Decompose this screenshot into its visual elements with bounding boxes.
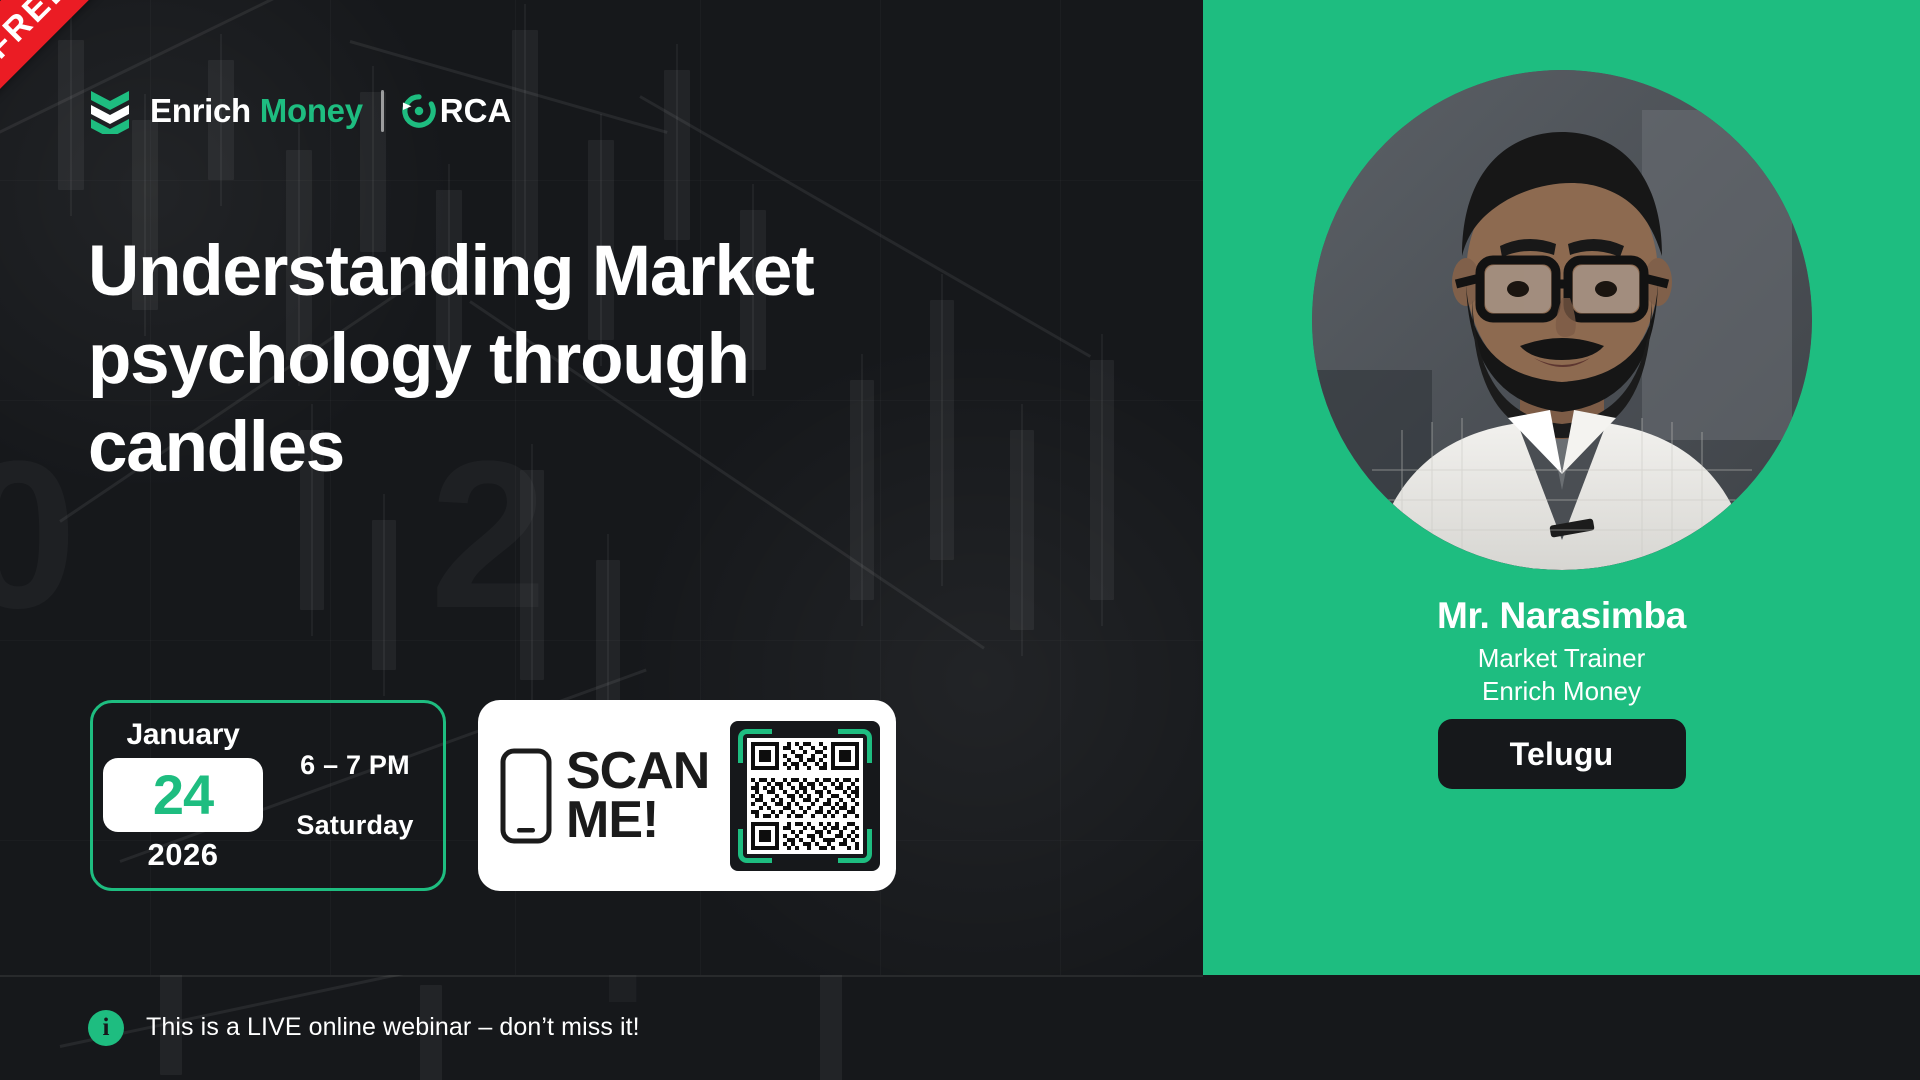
language-badge: Telugu [1438, 719, 1686, 789]
free-ribbon: FREE [0, 0, 204, 204]
speaker-portrait-avatar [1312, 70, 1812, 570]
speaker-role: Market Trainer [1203, 642, 1920, 675]
event-day: 24 [153, 767, 213, 823]
brand-name-part2: Money [260, 92, 363, 129]
scan-me-card[interactable]: SCAN ME! [478, 700, 896, 891]
qr-bracket-bottom-right [838, 829, 872, 863]
info-icon-glyph: i [103, 1014, 110, 1042]
avatar [1312, 70, 1812, 570]
speaker-organisation: Enrich Money [1203, 675, 1920, 708]
qr-bracket-top-left [738, 729, 772, 763]
free-ribbon-label: FREE [0, 0, 79, 67]
event-date-card: January 24 2026 6 – 7 PM Saturday [90, 700, 446, 891]
info-icon: i [88, 1010, 124, 1046]
scan-line-2: ME! [566, 796, 730, 845]
scan-me-text: SCAN ME! [552, 747, 730, 845]
language-label: Telugu [1510, 736, 1614, 773]
left-content-panel: 2 0 0 FREE Enrich Money [0, 0, 1203, 975]
event-date-block: January 24 2026 [93, 703, 273, 888]
free-ribbon-band: FREE [0, 0, 204, 161]
page-title: Understanding Market psychology through … [88, 228, 948, 492]
webinar-promo-banner: 2 0 0 FREE Enrich Money [0, 0, 1920, 1080]
orca-circle-icon [402, 94, 436, 128]
smartphone-icon [500, 748, 552, 844]
speaker-name: Mr. Narasimba [1203, 595, 1920, 637]
footer-notice: i This is a LIVE online webinar – don’t … [88, 975, 640, 1080]
logo-divider [381, 90, 384, 132]
partner-logo: RCA [402, 92, 512, 130]
event-time-block: 6 – 7 PM Saturday [273, 750, 443, 841]
event-day-box: 24 [103, 758, 263, 832]
event-month: January [127, 718, 240, 752]
partner-name: RCA [440, 92, 512, 130]
qr-bracket-top-right [838, 729, 872, 763]
qr-code-frame[interactable] [730, 721, 880, 871]
event-weekday: Saturday [296, 810, 413, 841]
footer-text: This is a LIVE online webinar – don’t mi… [146, 1013, 640, 1042]
event-time: 6 – 7 PM [300, 750, 410, 781]
speaker-panel: Mr. Narasimba Market Trainer Enrich Mone… [1203, 0, 1920, 975]
qr-bracket-bottom-left [738, 829, 772, 863]
scan-line-1: SCAN [566, 747, 730, 796]
speaker-credentials: Market Trainer Enrich Money [1203, 642, 1920, 709]
event-year: 2026 [148, 837, 219, 873]
footer-bar: 4 i This is a LIVE online webinar – don’… [0, 975, 1920, 1080]
